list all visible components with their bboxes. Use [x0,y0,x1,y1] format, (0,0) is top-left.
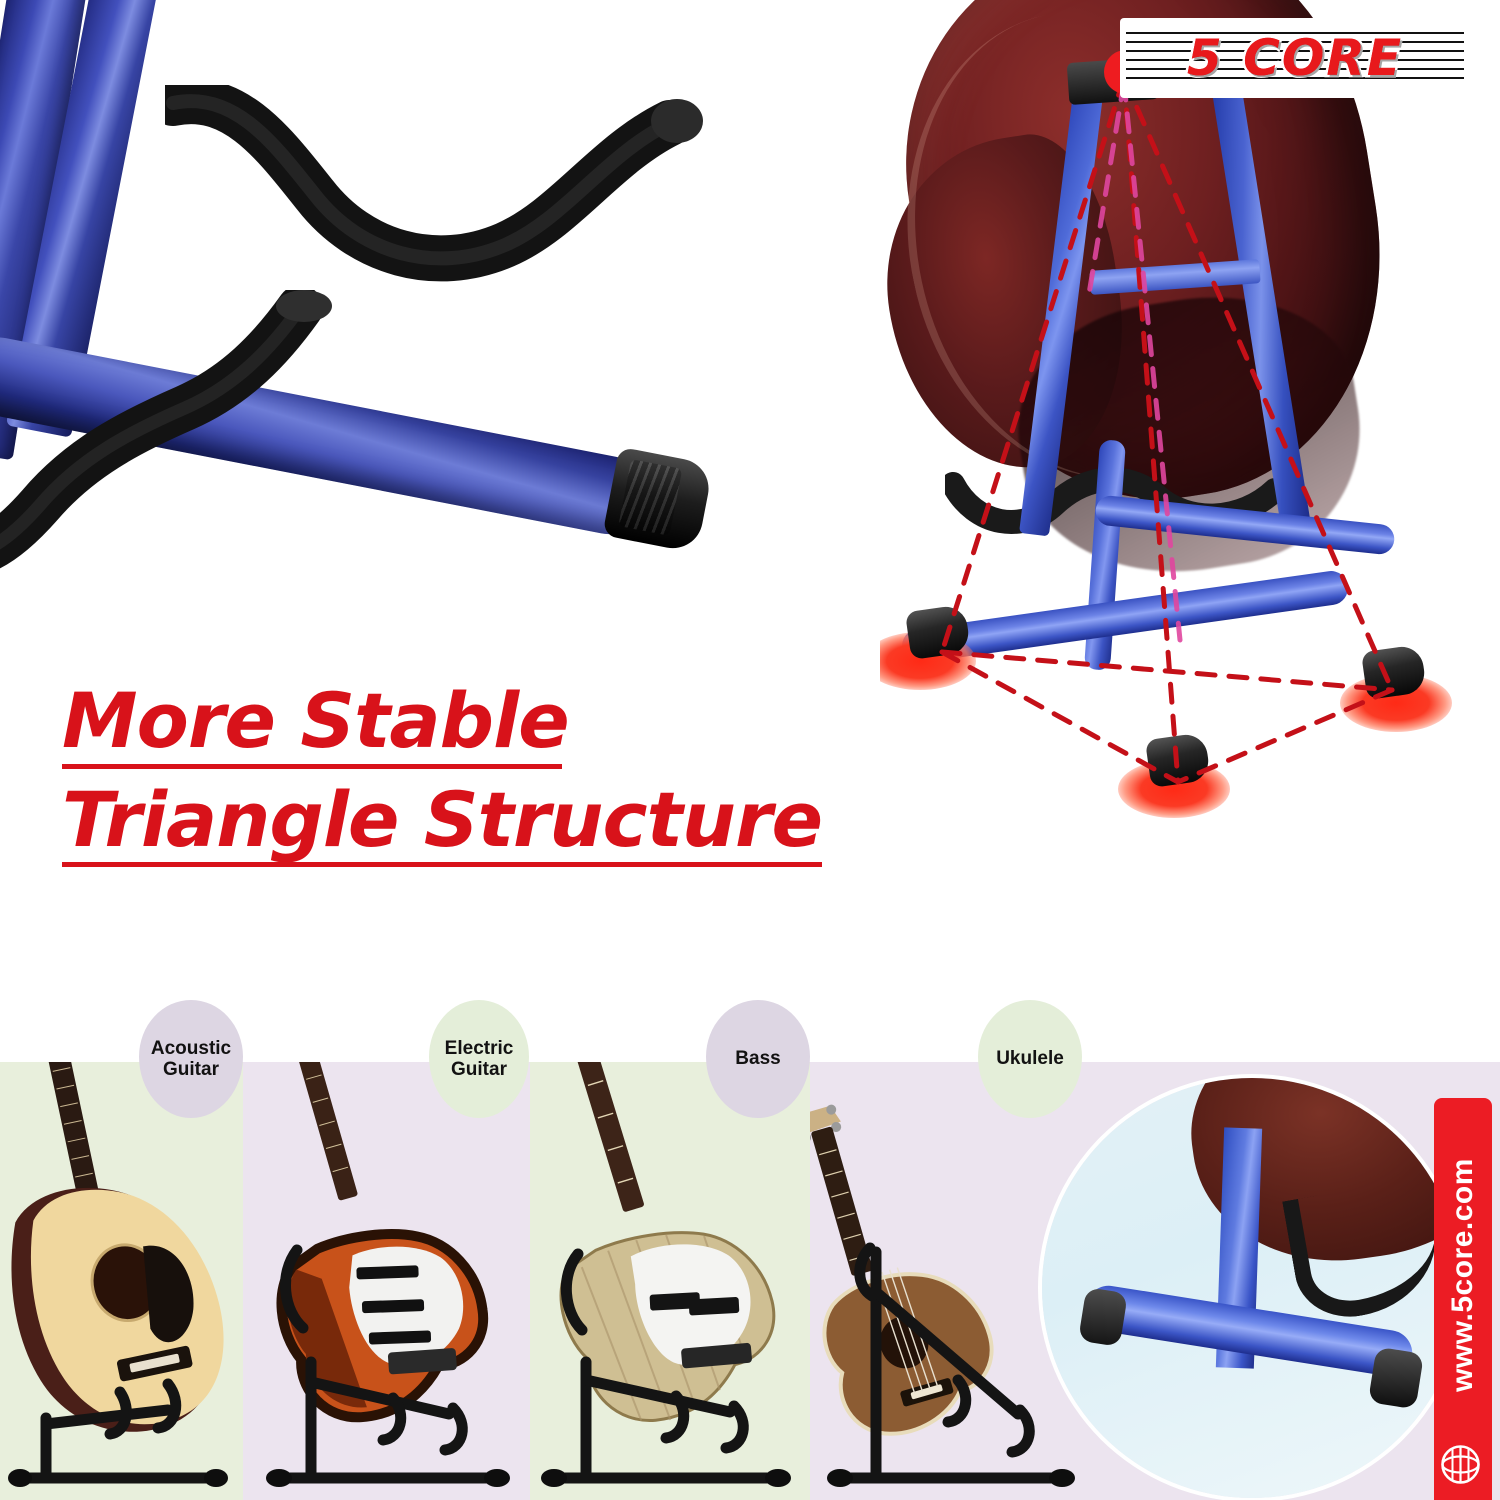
logo-text: 5 CORE [1120,18,1470,98]
brand-logo: 5 CORE 5 CORE [1120,18,1470,98]
panel-bass-guitar [530,1062,810,1500]
headline-line-1: More Stable [62,682,882,760]
inset-foot-cap-left [1078,1287,1128,1347]
panel-electric-guitar [243,1062,530,1500]
rubber-end-cap [602,447,713,554]
www-globe-icon [1440,1444,1487,1486]
label-acoustic-line1: Acoustic [151,1038,231,1059]
label-pill-ukulele: Ukulele [978,1000,1082,1118]
product-marketing-image: 5 CORE 5 CORE More Stable Triangle Struc… [0,0,1500,1500]
headline-line-2: Triangle Structure [62,781,882,859]
label-ukulele: Ukulele [996,1048,1064,1069]
acoustic-guitar-illustration [0,1062,243,1500]
hero-photo-closeup-arms [0,0,800,640]
headline-block: More Stable Triangle Structure [62,682,882,879]
label-bass: Bass [735,1048,780,1069]
label-electric-line2: Guitar [451,1059,507,1080]
website-url: www.5core.com [1446,1158,1480,1392]
panel-acoustic-guitar [0,1062,243,1500]
inset-foam-cradle [1282,1176,1448,1325]
bass-guitar-illustration [530,1062,810,1500]
detail-inset-base-junction [1042,1078,1462,1498]
label-acoustic-line2: Guitar [163,1059,219,1080]
padded-support-arm-upper [165,85,725,285]
website-banner[interactable]: www.5core.com [1434,1098,1492,1500]
electric-guitar-illustration [243,1062,530,1500]
padded-support-arm-lower [0,290,390,580]
label-electric-line1: Electric [445,1038,514,1059]
label-pill-electric-guitar: Electric Guitar [429,1000,529,1118]
label-pill-bass: Bass [706,1000,810,1118]
hero-photo-a-frame-triangle [880,0,1500,850]
inset-foot-cap-right [1368,1347,1424,1410]
label-pill-acoustic-guitar: Acoustic Guitar [139,1000,243,1118]
